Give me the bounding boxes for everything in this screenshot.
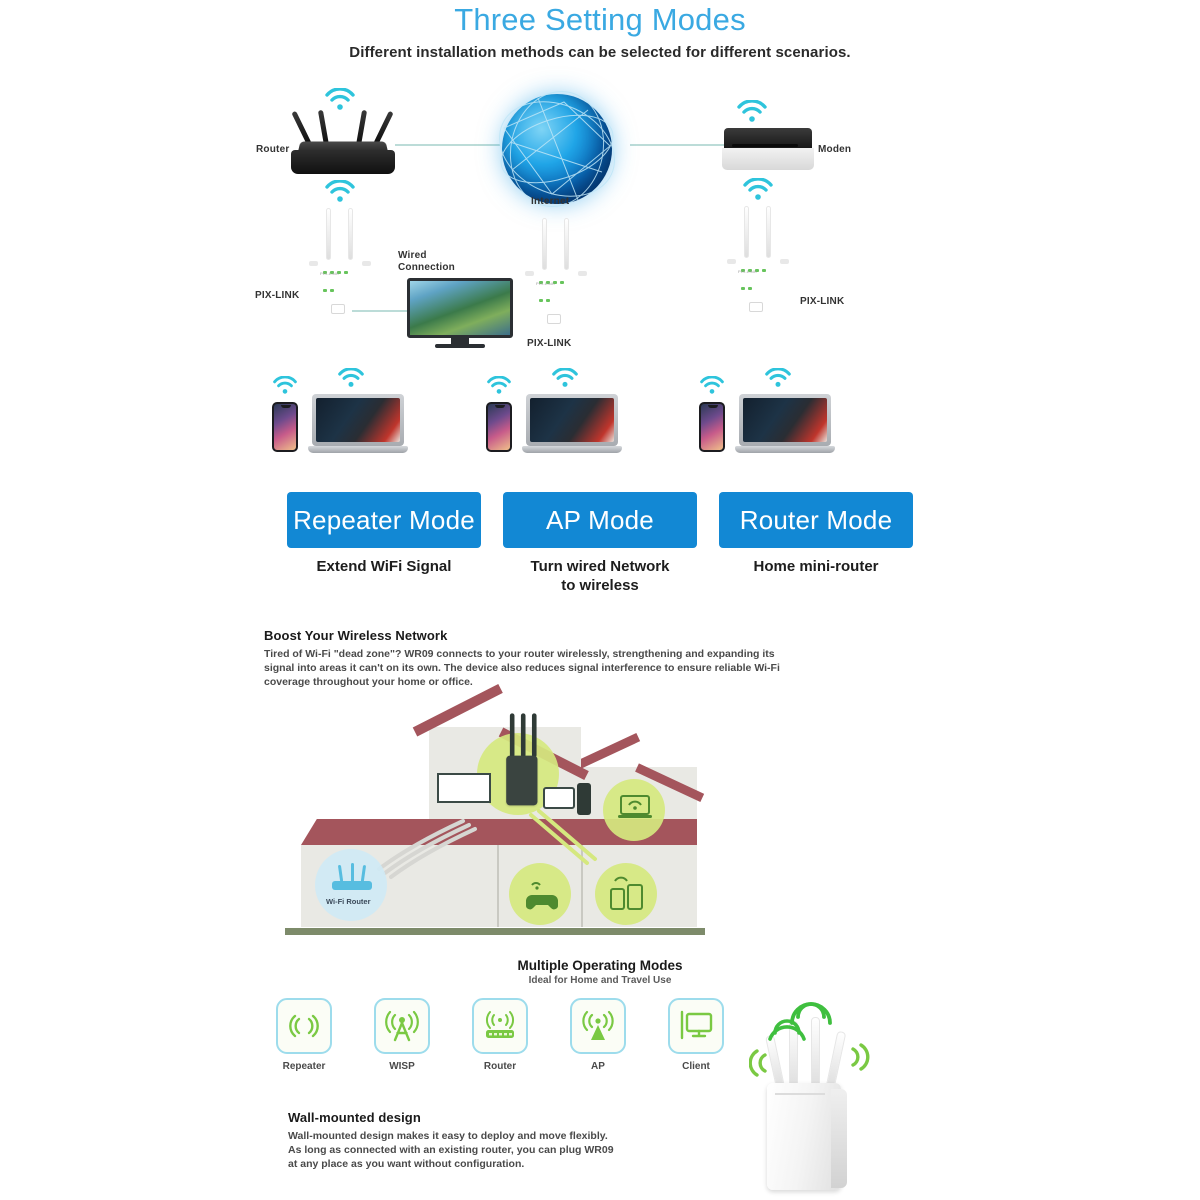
- label-pixlink-left: PIX-LINK: [255, 290, 299, 302]
- router-signal-icon: [472, 998, 528, 1054]
- house-ground: [285, 928, 705, 935]
- wifi-icon: [700, 376, 724, 394]
- wifi-extender-icon: PIX-LINK: [309, 206, 371, 326]
- wifi-extender-icon: [503, 721, 538, 806]
- monitor-icon: [668, 998, 724, 1054]
- operating-mode-label: Router: [472, 1061, 528, 1072]
- wifi-wave-green-top: [787, 997, 835, 1029]
- boost-network-section: Boost Your Wireless Network Tired of Wi-…: [264, 628, 784, 689]
- wall-mounted-heading: Wall-mounted design: [288, 1110, 618, 1125]
- label-pixlink-center: PIX-LINK: [527, 338, 571, 350]
- signal-wave-green: [525, 809, 605, 871]
- wall-mounted-section: Wall-mounted design Wall-mounted design …: [288, 1110, 618, 1171]
- house-coverage-diagram: Wi-Fi Router: [285, 705, 705, 935]
- ap-mode-caption: Turn wired Network to wireless: [503, 557, 697, 595]
- operating-modes-heading: Multiple Operating Modes: [0, 958, 1200, 973]
- router-mode-caption: Home mini-router: [719, 557, 913, 576]
- modem-icon: [722, 124, 814, 172]
- wifi-extender-icon: PIX-LINK: [727, 204, 789, 324]
- operating-mode-label: WISP: [374, 1061, 430, 1072]
- setting-modes-diagram: Router PIX-LINK PIX-LINK Wired Connectio…: [0, 72, 1200, 482]
- laptop-icon: [735, 394, 835, 456]
- label-router: Router: [256, 144, 289, 156]
- mode-column-router: Router Mode Home mini-router: [719, 492, 913, 595]
- product-infographic: Three Setting Modes Different installati…: [0, 0, 1200, 1200]
- label-wired-connection: Wired Connection: [398, 250, 455, 274]
- wifi-router-icon: [329, 863, 375, 895]
- operating-mode-ap[interactable]: AP: [570, 998, 626, 1072]
- operating-mode-label: Client: [668, 1061, 724, 1072]
- signal-wave-gray: [377, 819, 487, 881]
- operating-mode-label: Repeater: [276, 1061, 332, 1072]
- label-modem: Moden: [818, 144, 851, 156]
- house-tablet-icon: [543, 787, 575, 809]
- operating-mode-wisp[interactable]: WISP: [374, 998, 430, 1072]
- wifi-icon: [552, 368, 578, 387]
- page-title: Three Setting Modes: [0, 0, 1200, 38]
- mode-buttons-section: Repeater Mode Extend WiFi Signal AP Mode…: [0, 492, 1200, 595]
- operating-mode-repeater[interactable]: Repeater: [276, 998, 332, 1072]
- label-internet: Internet: [531, 196, 569, 208]
- house-television: [437, 773, 491, 803]
- mode-column-repeater: Repeater Mode Extend WiFi Signal: [287, 492, 481, 595]
- house-router-label: Wi-Fi Router: [326, 897, 371, 906]
- mobile-devices-icon: [609, 875, 645, 913]
- operating-mode-router[interactable]: Router: [472, 998, 528, 1072]
- mode-column-ap: AP Mode Turn wired Network to wireless: [503, 492, 697, 595]
- laptop-icon: [308, 394, 408, 456]
- wifi-icon: [487, 376, 511, 394]
- smartphone-icon: [272, 402, 298, 452]
- repeater-mode-button[interactable]: Repeater Mode: [287, 492, 481, 548]
- wifi-wave-green-left: [749, 1047, 789, 1081]
- repeater-mode-caption: Extend WiFi Signal: [287, 557, 481, 576]
- wifi-icon: [765, 368, 791, 387]
- wifi-icon: [338, 368, 364, 387]
- house-divider: [497, 845, 499, 927]
- gamepad-wifi-icon: [521, 877, 559, 911]
- wifi-icon: [737, 100, 767, 122]
- laptop-icon: [522, 394, 622, 456]
- laptop-wifi-icon: [617, 793, 653, 823]
- wifi-icon: [273, 376, 297, 394]
- house-roof-right: [571, 733, 640, 772]
- ap-mode-button[interactable]: AP Mode: [503, 492, 697, 548]
- signal-waves-icon: [276, 998, 332, 1054]
- operating-mode-client[interactable]: Client: [668, 998, 724, 1072]
- access-point-icon: [570, 998, 626, 1054]
- globe-internet-icon: [492, 84, 622, 214]
- operating-mode-label: AP: [570, 1061, 626, 1072]
- link-router-to-internet: [395, 144, 500, 146]
- boost-heading: Boost Your Wireless Network: [264, 628, 784, 643]
- operating-modes-section: Multiple Operating Modes Ideal for Home …: [0, 958, 1200, 1072]
- wifi-wave-green-right: [839, 1041, 881, 1075]
- header: Three Setting Modes Different installati…: [0, 0, 1200, 64]
- label-pixlink-right: PIX-LINK: [800, 296, 844, 308]
- wall-mounted-body: Wall-mounted design makes it easy to dep…: [288, 1129, 618, 1171]
- router-mode-button[interactable]: Router Mode: [719, 492, 913, 548]
- router-icon: [285, 114, 401, 174]
- antenna-tower-icon: [374, 998, 430, 1054]
- wifi-extender-product-image: [735, 995, 885, 1190]
- wifi-icon: [325, 180, 355, 202]
- boost-body: Tired of Wi-Fi "dead zone"? WR09 connect…: [264, 647, 784, 689]
- wifi-icon: [743, 178, 773, 200]
- smartphone-icon: [486, 402, 512, 452]
- page-subtitle: Different installation methods can be se…: [0, 38, 1200, 64]
- operating-modes-subheading: Ideal for Home and Travel Use: [0, 975, 1200, 986]
- wifi-icon: [325, 88, 355, 110]
- link-internet-to-modem: [630, 144, 725, 146]
- wifi-extender-icon: PIX-LINK: [525, 216, 587, 336]
- smartphone-icon: [699, 402, 725, 452]
- television-icon: [407, 278, 513, 350]
